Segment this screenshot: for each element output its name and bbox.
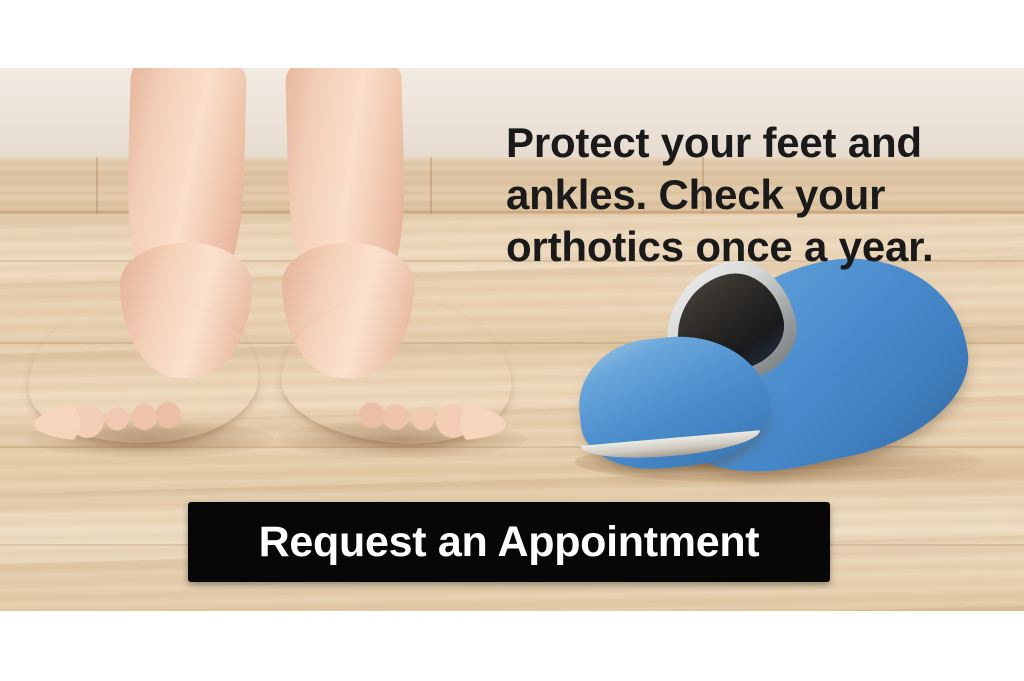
banner-headline: Protect your feet and ankles. Check your… — [506, 117, 946, 273]
legs-and-feet — [0, 68, 560, 488]
request-appointment-button[interactable]: Request an Appointment — [188, 502, 830, 582]
orthotic-insoles — [575, 263, 995, 493]
orthotics-promo-banner: Protect your feet and ankles. Check your… — [0, 0, 1024, 681]
